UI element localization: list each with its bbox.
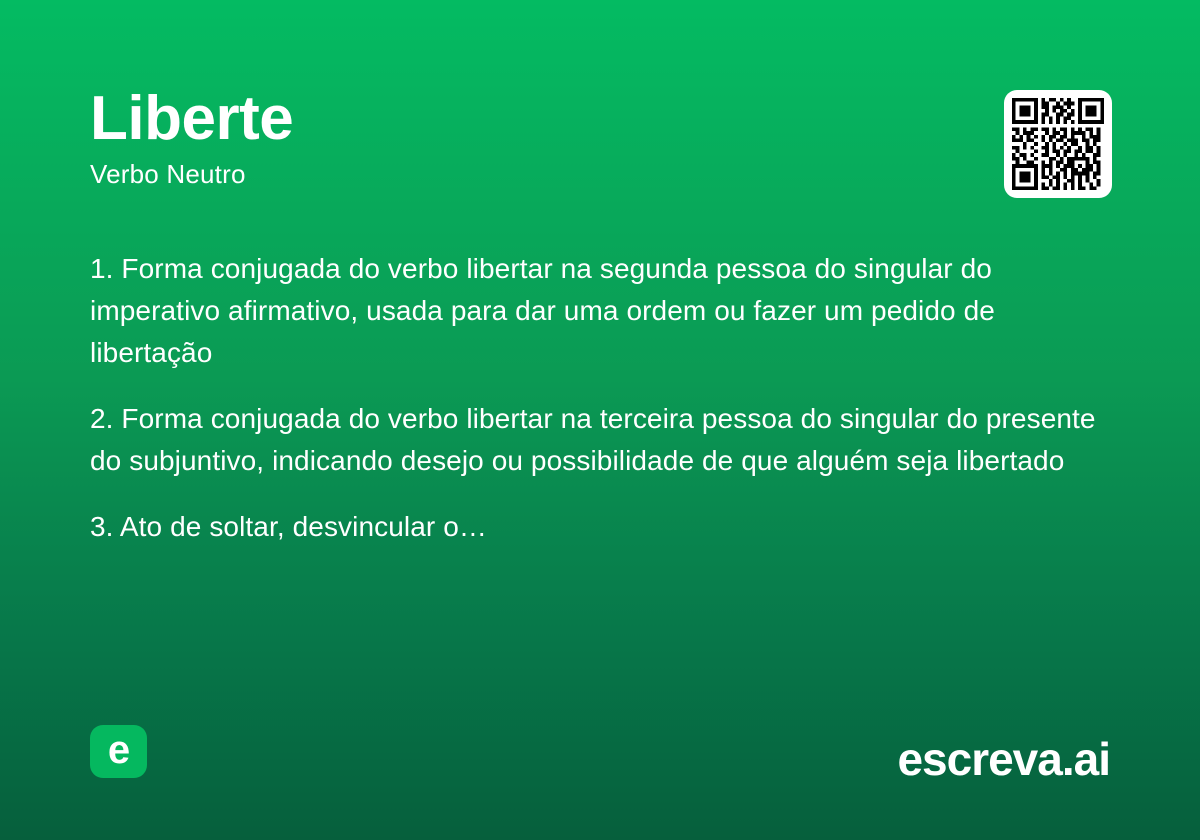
definition-item: 1. Forma conjugada do verbo libertar na … <box>90 248 1114 374</box>
word-class-label: Verbo Neutro <box>90 160 1110 189</box>
word-title: Liberte <box>90 88 1110 150</box>
logo-letter: e <box>108 730 129 770</box>
qr-code-icon <box>1012 98 1104 190</box>
qr-code-card[interactable] <box>1004 90 1112 198</box>
definition-item: 2. Forma conjugada do verbo libertar na … <box>90 398 1114 482</box>
definitions-list: 1. Forma conjugada do verbo libertar na … <box>90 248 1114 548</box>
definition-item: 3. Ato de soltar, desvincular o… <box>90 506 1114 548</box>
escreva-logo-icon[interactable]: e <box>90 725 147 778</box>
definition-card: Liberte Verbo Neutro <box>0 0 1200 840</box>
card-footer: e escreva.ai <box>0 700 1200 840</box>
brand-name: escreva.ai <box>897 736 1110 782</box>
qr-code-container[interactable] <box>1004 90 1112 218</box>
card-header: Liberte Verbo Neutro <box>90 88 1110 189</box>
